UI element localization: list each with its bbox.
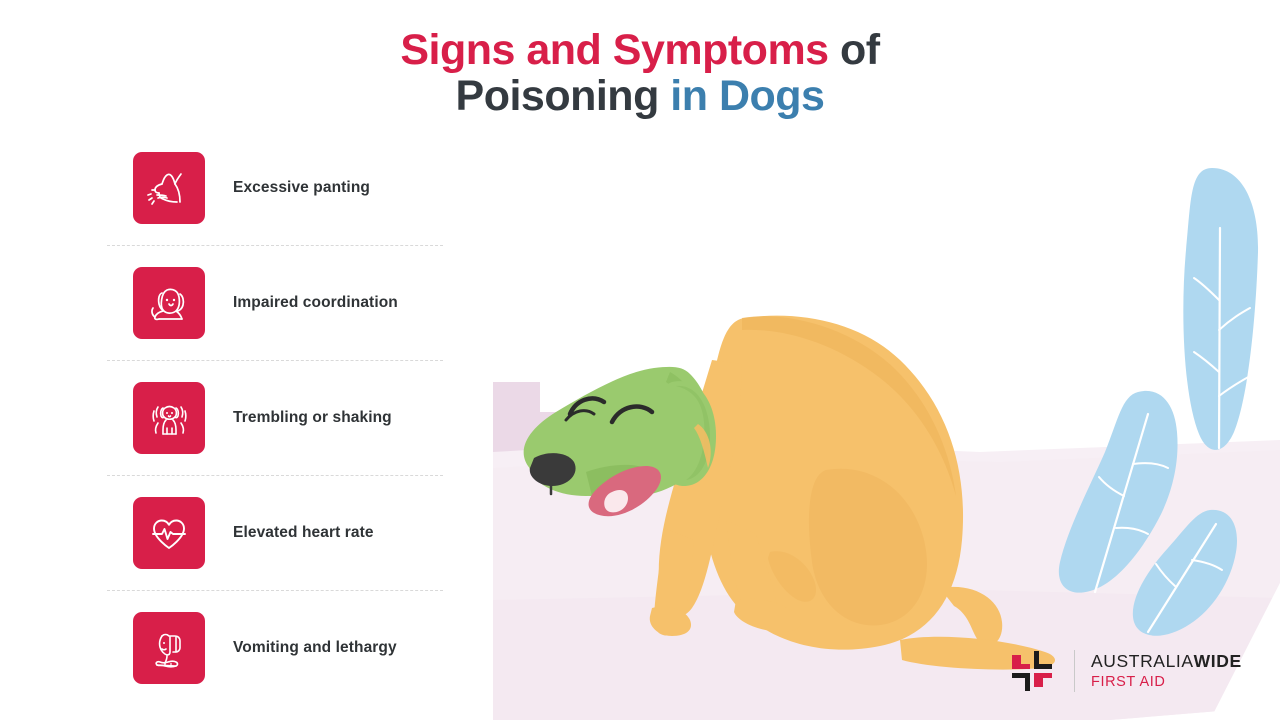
title-part-of: of bbox=[829, 26, 880, 74]
heart-pulse-icon bbox=[133, 497, 205, 569]
blue-leaf-cluster bbox=[1059, 391, 1237, 636]
dog-trembling-icon bbox=[133, 382, 205, 454]
page-title: Signs and Symptoms of Poisoning in Dogs bbox=[0, 28, 1280, 119]
logo-tagline: FIRST AID bbox=[1091, 674, 1242, 690]
list-item[interactable]: Impaired coordination bbox=[107, 245, 447, 360]
title-line-1: Signs and Symptoms of bbox=[0, 28, 1280, 74]
title-line-2: Poisoning in Dogs bbox=[0, 74, 1280, 120]
logo-divider bbox=[1074, 650, 1075, 692]
dog-lying-icon bbox=[133, 267, 205, 339]
dog-panting-icon bbox=[133, 152, 205, 224]
list-item[interactable]: Excessive panting bbox=[107, 130, 447, 245]
list-item-label: Trembling or shaking bbox=[233, 409, 392, 427]
logo-brand-australia: AUSTRALIA bbox=[1091, 651, 1194, 671]
brand-logo[interactable]: AUSTRALIAWIDE FIRST AID bbox=[1008, 640, 1258, 702]
list-item-label: Elevated heart rate bbox=[233, 524, 374, 542]
logo-brand-wide: WIDE bbox=[1194, 651, 1242, 671]
list-item[interactable]: Vomiting and lethargy bbox=[107, 590, 447, 705]
australia-wide-cross-logo bbox=[1008, 647, 1056, 695]
title-part-poisoning: Poisoning bbox=[456, 72, 671, 120]
logo-brand-name: AUSTRALIAWIDE bbox=[1091, 652, 1242, 672]
infographic-canvas: Signs and Symptoms of Poisoning in Dogs bbox=[0, 0, 1280, 720]
symptom-list: Excessive panting Impaired coordinat bbox=[107, 130, 447, 705]
list-item-label: Impaired coordination bbox=[233, 294, 398, 312]
list-item-label: Vomiting and lethargy bbox=[233, 639, 397, 657]
logo-text: AUSTRALIAWIDE FIRST AID bbox=[1091, 652, 1242, 690]
title-part-signs-symptoms: Signs and Symptoms bbox=[400, 26, 828, 74]
list-item[interactable]: Trembling or shaking bbox=[107, 360, 447, 475]
dog-figure bbox=[524, 316, 1055, 670]
title-part-in-dogs: in Dogs bbox=[670, 72, 824, 120]
list-item[interactable]: Elevated heart rate bbox=[107, 475, 447, 590]
dog-vomiting-icon bbox=[133, 612, 205, 684]
blue-leaf-tall bbox=[1183, 168, 1258, 450]
list-item-label: Excessive panting bbox=[233, 179, 370, 197]
